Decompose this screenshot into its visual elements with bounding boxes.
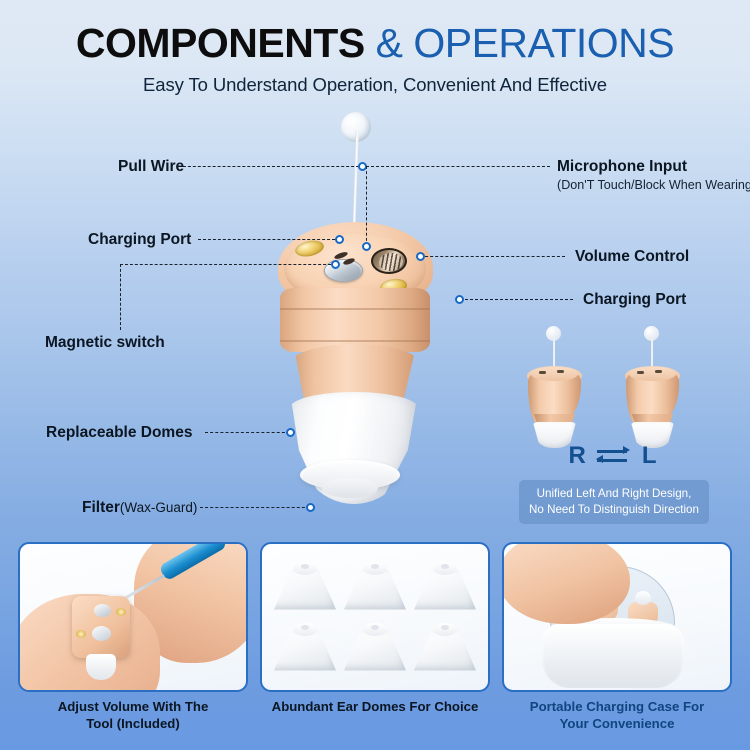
label-charging-port-right: Charging Port: [583, 291, 686, 309]
device-seam-upper: [280, 308, 430, 310]
mini-hearing-aid-right: [523, 336, 585, 446]
wax-guard-filter: [322, 478, 378, 498]
label-pull-wire: Pull Wire: [118, 158, 184, 176]
mini-volume-left: [655, 370, 662, 373]
unified-design-badge-line1: Unified Left And Right Design,: [523, 486, 705, 502]
mini-volume-right: [557, 370, 564, 373]
leader-line-magnetic-switch-horizontal: [120, 264, 336, 265]
label-microphone-input-note: (Don'T Touch/Block When Wearing): [557, 178, 750, 192]
label-magnetic-switch: Magnetic switch: [45, 334, 165, 352]
mini-hearing-aid-left: [621, 336, 683, 446]
diagram-stage: Pull Wire Charging Port Magnetic switch …: [0, 0, 750, 750]
feature-card-adjust-volume: Adjust Volume With The Tool (Included): [18, 542, 248, 742]
leader-line-volume-control: [420, 256, 565, 257]
hearing-aid-illustration: [270, 112, 440, 442]
caption-line-1: Abundant Ear Domes For Choice: [260, 699, 490, 716]
label-filter: Filter(Wax-Guard): [82, 499, 197, 517]
left-letter: L: [642, 442, 657, 470]
node-charging-port-left: [335, 235, 344, 244]
node-replaceable-domes: [286, 428, 295, 437]
hearing-aid-closeup: [72, 596, 130, 658]
unified-design-badge: Unified Left And Right Design, No Need T…: [519, 480, 709, 524]
node-magnetic-switch: [331, 260, 340, 269]
label-microphone-input: Microphone Input (Don'T Touch/Block When…: [557, 158, 750, 192]
feature-card-image-adjust-volume: [18, 542, 248, 692]
charging-case-base: [542, 624, 684, 688]
ear-dome-item: [414, 623, 476, 673]
mini-microphone-left: [637, 371, 644, 374]
leader-line-replaceable-domes: [205, 432, 290, 433]
closeup-magnetic-switch: [94, 604, 111, 617]
device-shell-middle: [280, 288, 430, 352]
feature-card-caption-adjust-volume: Adjust Volume With The Tool (Included): [18, 699, 248, 733]
label-microphone-input-text: Microphone Input: [557, 158, 687, 175]
leader-line-charging-port-right: [460, 299, 573, 300]
node-microphone-input: [362, 242, 371, 251]
caption-line-1: Adjust Volume With The: [18, 699, 248, 716]
pull-wire: [352, 130, 359, 235]
ear-dome-item: [344, 623, 406, 673]
leader-line-microphone-horizontal: [366, 166, 550, 167]
feature-card-image-charging-case: [502, 542, 732, 692]
closeup-contact-1: [76, 630, 86, 638]
feature-cards: Adjust Volume With The Tool (Included) A…: [18, 542, 732, 742]
mini-face-plate-right: [531, 367, 578, 381]
feature-card-caption-ear-domes: Abundant Ear Domes For Choice: [260, 699, 490, 716]
leader-line-charging-port-left: [198, 239, 340, 240]
label-replaceable-domes: Replaceable Domes: [46, 424, 192, 442]
left-right-panel: R L Unified Left And Right Design, No Ne…: [505, 330, 720, 530]
exchange-arrows-icon: [597, 446, 631, 466]
label-charging-port-left: Charging Port: [88, 231, 191, 249]
ear-dome-item: [414, 562, 476, 612]
feature-card-image-ear-domes: [260, 542, 490, 692]
closeup-volume-dial: [92, 626, 111, 641]
node-filter: [306, 503, 315, 512]
leader-line-filter: [200, 507, 310, 508]
ear-dome-item: [274, 623, 336, 673]
label-volume-control: Volume Control: [575, 248, 689, 266]
feature-card-charging-case: Portable Charging Case For Your Convenie…: [502, 542, 732, 742]
left-right-indicator: R L: [505, 442, 720, 470]
label-filter-suffix: (Wax-Guard): [120, 500, 198, 515]
caption-line-2: Tool (Included): [18, 716, 248, 733]
caption-line-1: Portable Charging Case For: [502, 699, 732, 716]
leader-line-magnetic-switch-vertical: [120, 264, 121, 330]
mini-microphone-right: [539, 371, 546, 374]
caption-line-2: Your Convenience: [502, 716, 732, 733]
ear-dome-item: [274, 562, 336, 612]
mini-face-plate-left: [629, 367, 676, 381]
leader-line-microphone-vertical: [366, 166, 367, 246]
feature-card-caption-charging-case: Portable Charging Case For Your Convenie…: [502, 699, 732, 733]
device-seam-lower: [280, 340, 430, 342]
node-volume-control: [416, 252, 425, 261]
leader-line-pull-wire: [178, 166, 364, 167]
ear-dome-grid: [262, 544, 488, 690]
label-filter-text: Filter: [82, 499, 120, 516]
volume-control-wheel: [371, 248, 407, 274]
right-letter: R: [568, 442, 585, 470]
feature-card-ear-domes: Abundant Ear Domes For Choice: [260, 542, 490, 742]
ear-dome-item: [344, 562, 406, 612]
hand-opening-case: [502, 542, 630, 624]
closeup-dome: [86, 654, 116, 680]
closeup-contact-2: [116, 608, 126, 616]
node-charging-port-right: [455, 295, 464, 304]
unified-design-badge-line2: No Need To Distinguish Direction: [523, 502, 705, 518]
